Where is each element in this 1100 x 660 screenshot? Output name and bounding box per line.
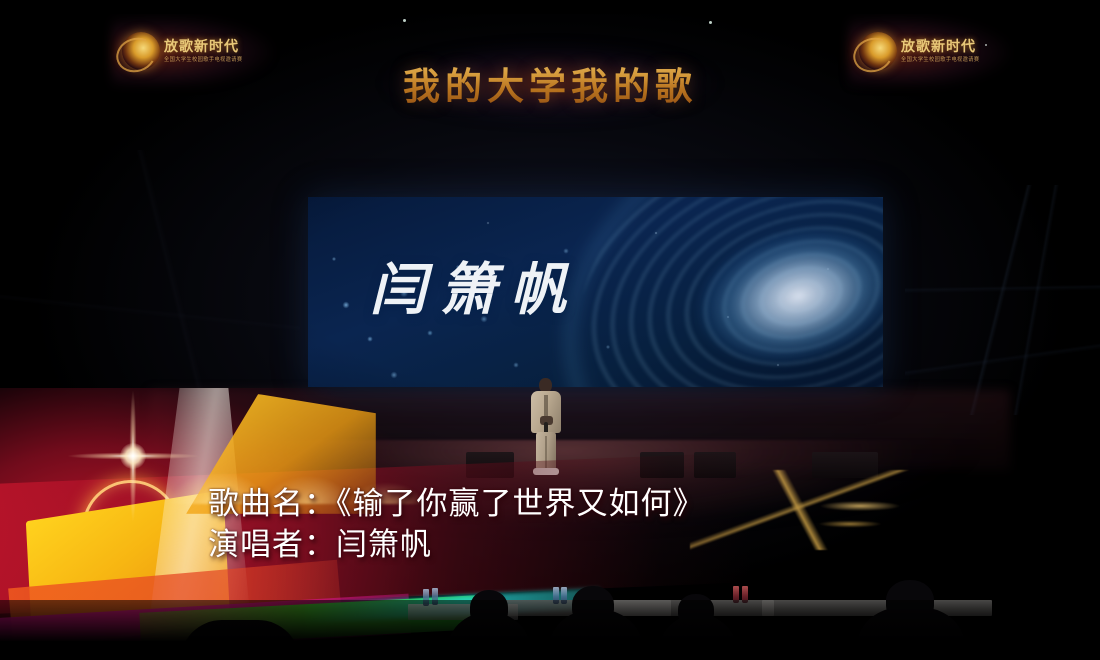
logo-subtitle-left: 全国大学生校园歌手电视邀请赛 <box>164 55 242 63</box>
event-logo-right: 放歌新时代 全国大学生校园歌手电视邀请赛 <box>855 28 1003 74</box>
performer-trousers <box>536 432 556 470</box>
song-title: 《输了你赢了世界又如何》 <box>336 486 705 522</box>
song-label: 歌曲名： <box>208 486 336 522</box>
event-logo-left: 放歌新时代 全国大学生校园歌手电视邀请赛 <box>118 28 266 74</box>
music-note-emblem-icon <box>122 32 160 70</box>
stage-truss-right <box>905 185 1100 415</box>
stage-truss-left <box>0 150 300 410</box>
singer-line: 演唱者：闫箫帆 <box>208 525 705 566</box>
logo-subtitle-right: 全国大学生校园歌手电视邀请赛 <box>901 55 979 63</box>
song-info-block: 歌曲名：《输了你赢了世界又如何》 演唱者：闫箫帆 <box>208 484 705 566</box>
letterbox-top <box>0 0 1100 14</box>
stage-light-spark <box>709 21 712 24</box>
stage-monitor <box>694 452 736 478</box>
stage-monitor <box>812 452 878 478</box>
led-backdrop-screen: 闫箫帆 <box>308 197 883 387</box>
singer-label: 演唱者： <box>208 527 336 563</box>
event-title-text: 我的大学我的歌 <box>403 56 697 110</box>
music-note-emblem-icon <box>859 32 897 70</box>
performer-shoes <box>533 468 559 475</box>
stage-monitor <box>466 452 514 478</box>
stage-light-spark <box>403 19 406 22</box>
stage-monitor <box>640 452 684 478</box>
letterbox-bottom <box>0 641 1100 660</box>
singer-name: 闫箫帆 <box>336 527 432 563</box>
screen-vignette <box>308 197 883 387</box>
logo-name-right: 放歌新时代 <box>901 36 976 56</box>
song-line: 歌曲名：《输了你赢了世界又如何》 <box>208 484 705 525</box>
logo-name-left: 放歌新时代 <box>164 36 239 56</box>
broadcast-screenshot: 我的大学我的歌 放歌新时代 全国大学生校园歌手电视邀请赛 放歌新时代 全国大学生… <box>0 0 1100 660</box>
